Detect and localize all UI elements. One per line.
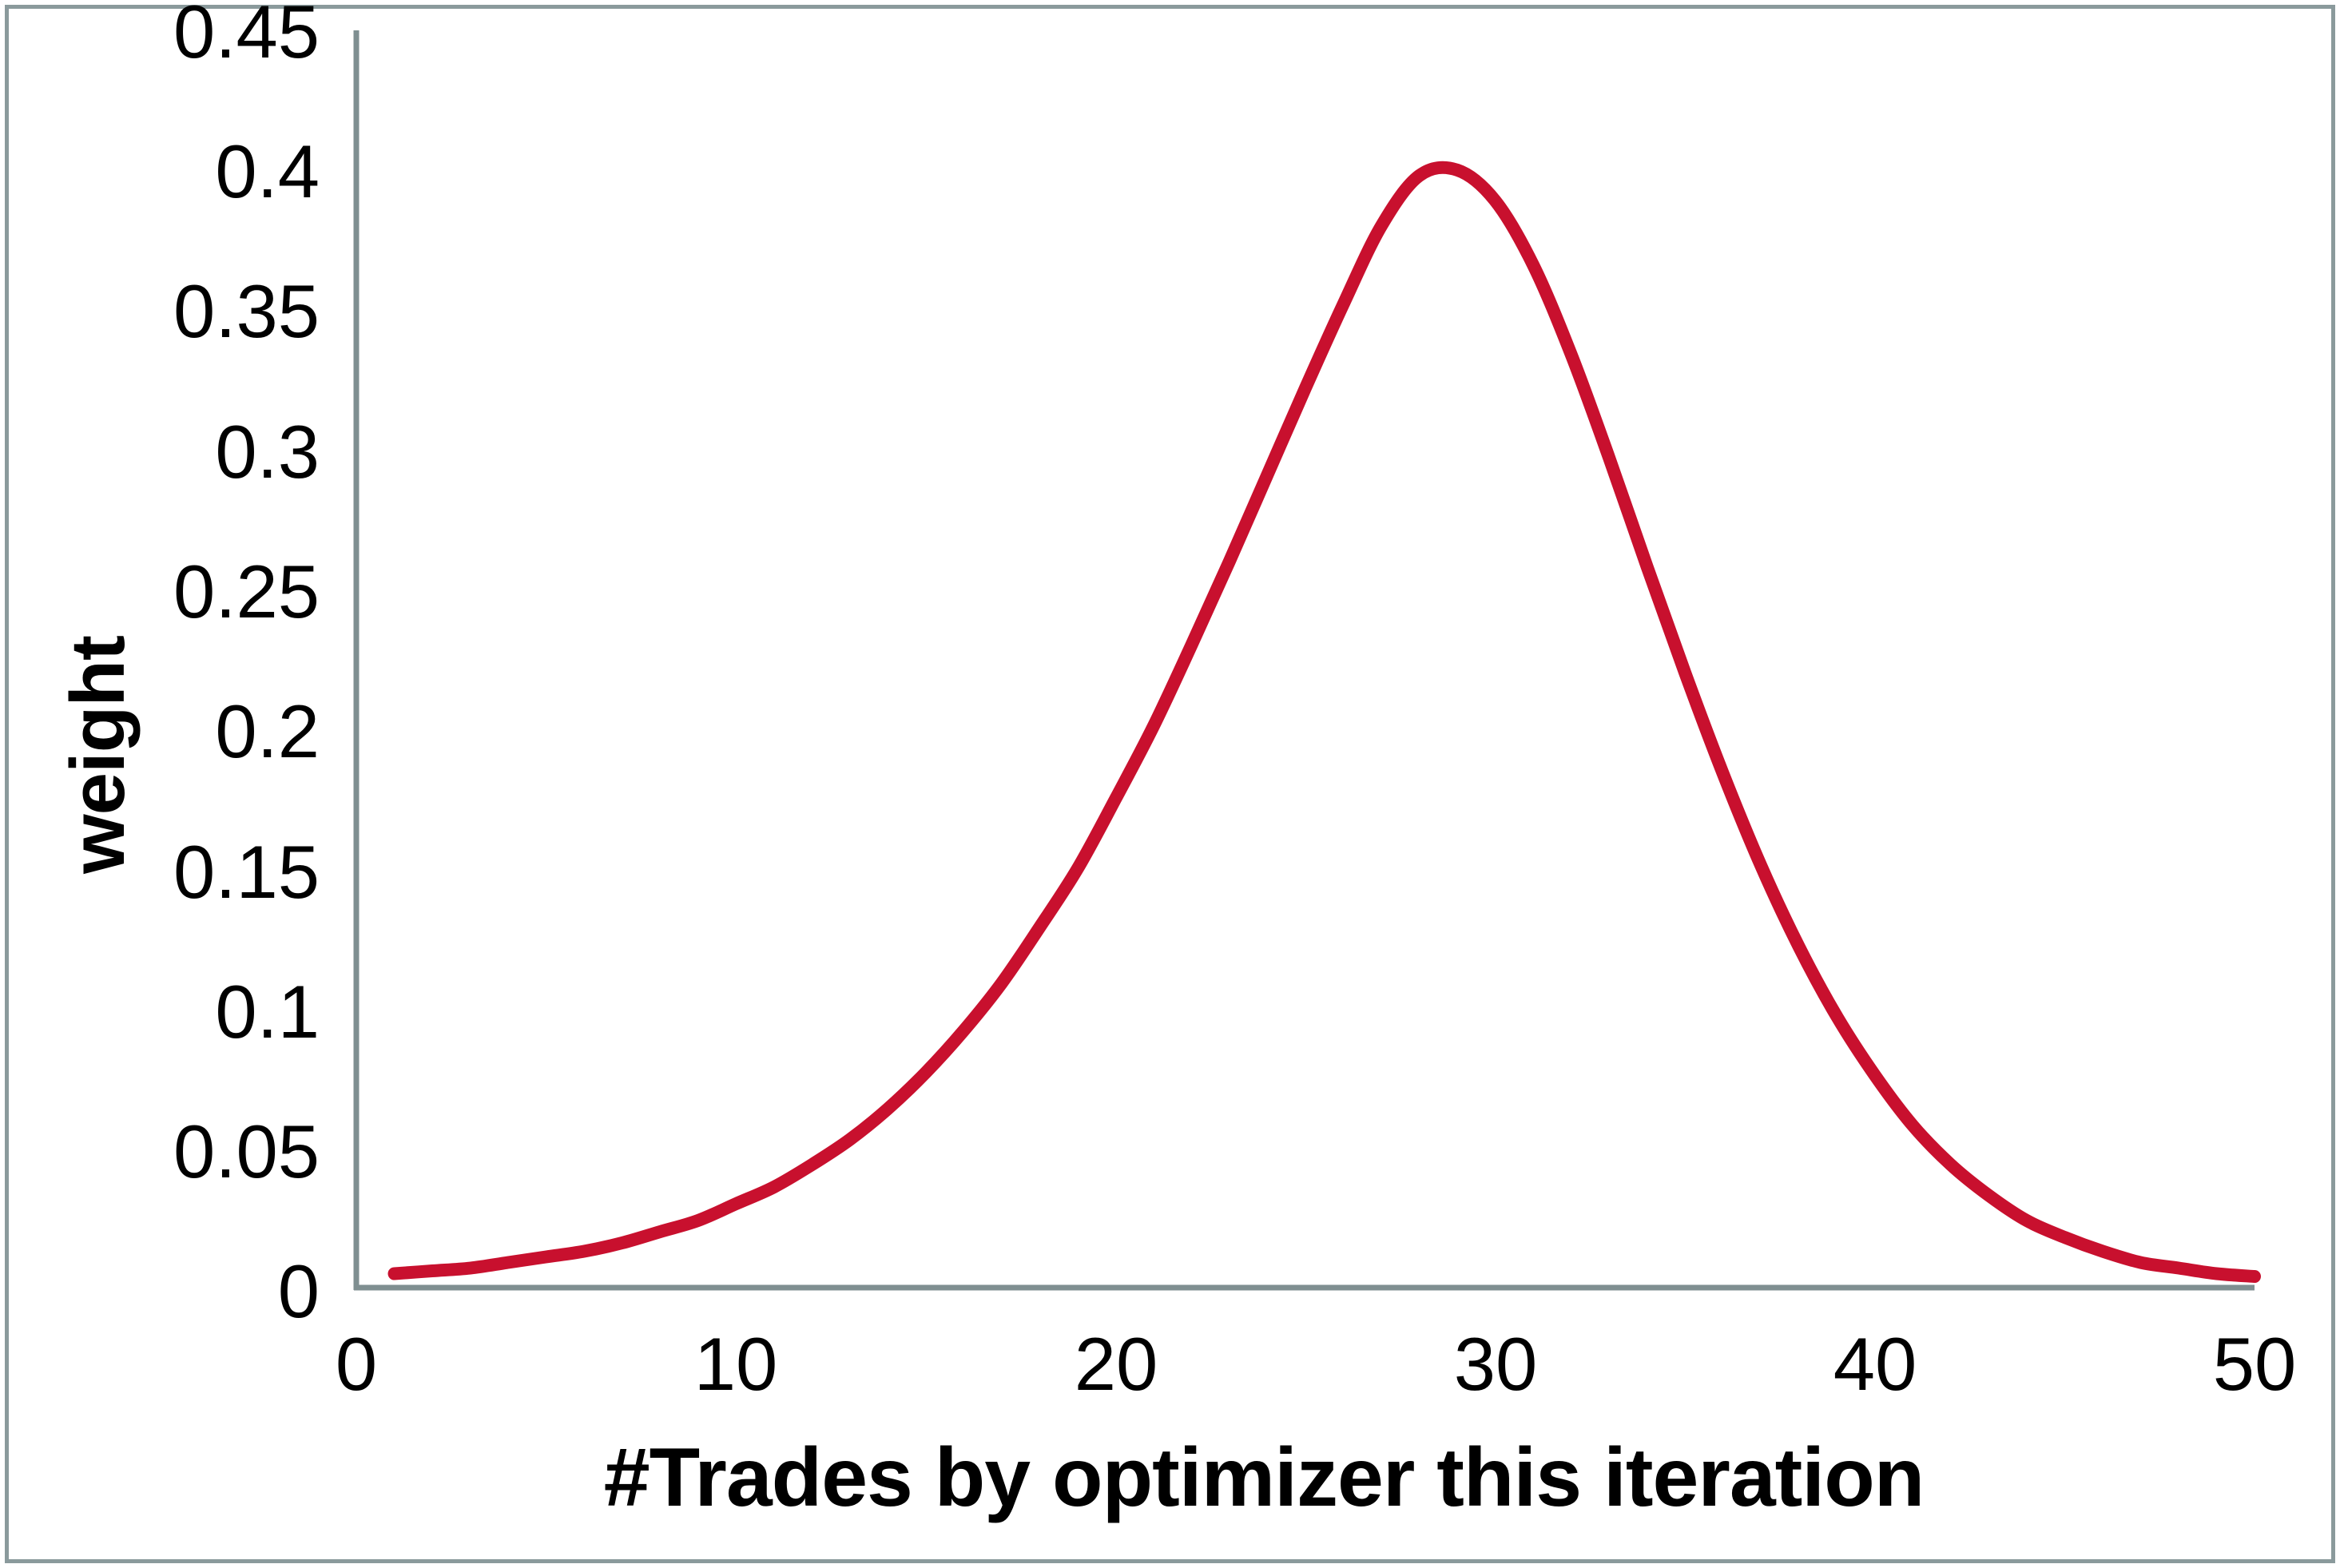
y-axis-title: weight bbox=[55, 636, 141, 875]
y-tick-label-0.4: 0.4 bbox=[215, 129, 320, 213]
x-tick-label-10: 10 bbox=[694, 1322, 778, 1406]
x-tick-label-0: 0 bbox=[336, 1322, 377, 1406]
chart-canvas: 0.45 0.4 0.35 0.3 0.25 0.2 0.15 0.1 0.05… bbox=[0, 0, 2340, 1568]
x-tick-label-20: 20 bbox=[1075, 1322, 1158, 1406]
plot-area-background bbox=[354, 30, 2255, 1290]
y-tick-label-0.2: 0.2 bbox=[215, 689, 320, 773]
chart-page: 0.45 0.4 0.35 0.3 0.25 0.2 0.15 0.1 0.05… bbox=[0, 0, 2340, 1568]
y-tick-label-0.1: 0.1 bbox=[215, 970, 320, 1054]
y-tick-label-0.25: 0.25 bbox=[173, 550, 320, 633]
y-tick-label-0.05: 0.05 bbox=[173, 1110, 320, 1193]
x-tick-label-30: 30 bbox=[1454, 1322, 1538, 1406]
y-tick-label-0.45: 0.45 bbox=[173, 0, 320, 73]
y-tick-label-0.3: 0.3 bbox=[215, 410, 320, 494]
y-tick-label-0: 0 bbox=[278, 1249, 320, 1333]
gaussian-weight-chart: 0.45 0.4 0.35 0.3 0.25 0.2 0.15 0.1 0.05… bbox=[0, 0, 2340, 1568]
y-tick-label-0.35: 0.35 bbox=[173, 269, 320, 353]
x-axis-title: #Trades by optimizer this iteration bbox=[604, 1431, 1925, 1524]
x-tick-label-40: 40 bbox=[1833, 1322, 1917, 1406]
x-tick-label-50: 50 bbox=[2213, 1322, 2297, 1406]
y-tick-label-0.15: 0.15 bbox=[173, 830, 320, 914]
